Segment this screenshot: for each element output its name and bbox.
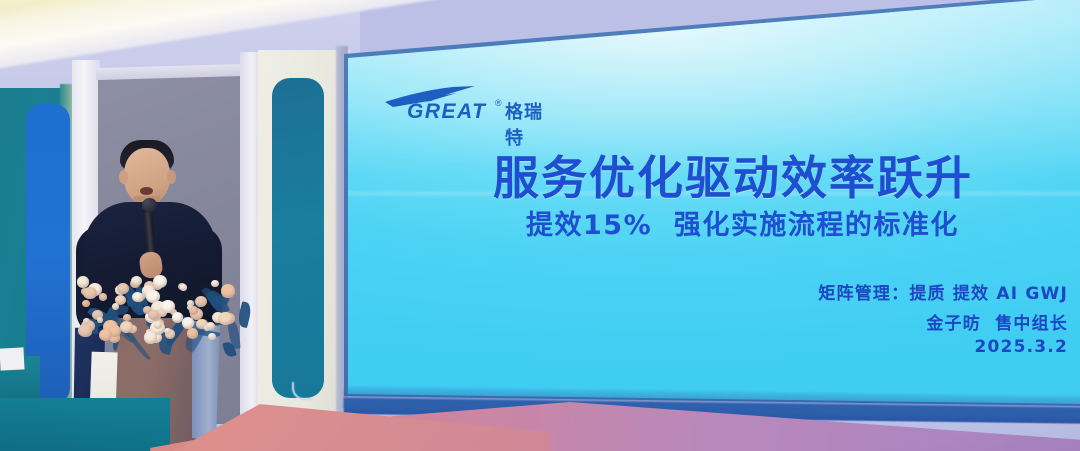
slide-meta-presenter: 金子昉 售中组长 bbox=[926, 309, 1068, 334]
flower-bloom bbox=[99, 293, 107, 301]
paper-sheet bbox=[0, 347, 25, 370]
flower-bloom bbox=[206, 322, 215, 331]
wall-inset-teal bbox=[272, 78, 324, 398]
flower-bloom bbox=[164, 328, 170, 334]
speaker-ear-right bbox=[167, 170, 176, 184]
flower-bloom bbox=[153, 275, 167, 288]
flower-bloom bbox=[187, 328, 198, 338]
flower-bloom bbox=[195, 296, 207, 307]
logo-wordmark: GREAT bbox=[407, 100, 486, 124]
presentation-photo: GREAT ® 格瑞特 服务优化驱动效率跃升 提效15% 强化实施流程的标准化 … bbox=[0, 0, 1080, 451]
speaker-mouth bbox=[140, 187, 153, 195]
flower-bloom bbox=[180, 284, 187, 290]
slide-meta-matrix-management: 矩阵管理：提质 提效 AI GWJ bbox=[818, 279, 1068, 304]
flower-bloom bbox=[83, 287, 96, 299]
stage-front-teal bbox=[0, 398, 170, 451]
flower-bloom bbox=[131, 276, 142, 286]
slide-meta-date: 2025.3.2 bbox=[975, 337, 1069, 357]
flower-bloom bbox=[144, 331, 158, 344]
slide-title: 服务优化驱动效率跃升 bbox=[493, 142, 1080, 208]
flower-bloom bbox=[182, 317, 194, 328]
flower-bloom bbox=[132, 292, 143, 302]
flower-bloom bbox=[161, 300, 174, 312]
speaker-ear-left bbox=[119, 170, 128, 184]
flower-bloom bbox=[221, 284, 235, 297]
flower-bloom bbox=[82, 300, 90, 307]
flower-bloom bbox=[211, 280, 219, 287]
flower-arrangement bbox=[74, 254, 242, 350]
flower-bloom bbox=[120, 321, 133, 333]
great-logo: GREAT ® 格瑞特 bbox=[383, 86, 558, 126]
flower-bloom bbox=[208, 333, 216, 340]
flower-bloom bbox=[97, 317, 103, 323]
flower-bloom bbox=[123, 314, 131, 321]
flower-bloom bbox=[218, 312, 232, 325]
flower-bloom bbox=[117, 283, 129, 294]
flower-bloom bbox=[154, 321, 162, 328]
logo-registered-mark: ® bbox=[495, 98, 502, 108]
slide-subtitle: 提效15% 强化实施流程的标准化 bbox=[526, 203, 1080, 242]
speaker bbox=[72, 140, 242, 440]
flower-bloom bbox=[172, 312, 183, 322]
